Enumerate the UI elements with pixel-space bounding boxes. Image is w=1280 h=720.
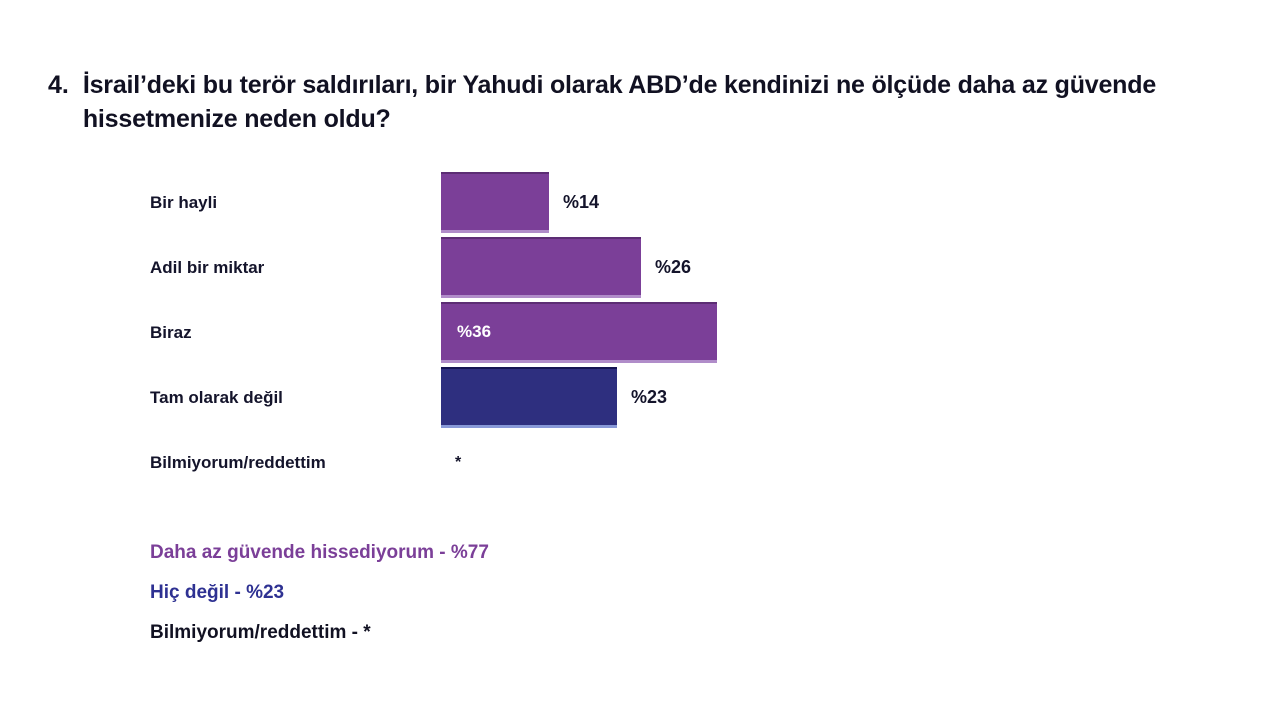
category-label: Adil bir miktar <box>150 257 430 279</box>
bar-biraz[interactable]: %36 <box>441 302 717 363</box>
chart-row: Adil bir miktar %26 <box>0 235 1280 300</box>
bar-area: %36 <box>441 300 717 365</box>
chart-row: Bilmiyorum/reddettim * <box>0 430 1280 495</box>
bar-area: %26 <box>441 235 691 300</box>
bar-adil-bir-miktar[interactable] <box>441 237 641 298</box>
summary-legend: Daha az güvende hissediyorum - %77 Hiç d… <box>150 533 489 653</box>
category-label: Tam olarak değil <box>150 387 430 409</box>
bar-tam-olarak-degil[interactable] <box>441 367 617 428</box>
question-heading: 4. İsrail’deki bu terör saldırıları, bir… <box>48 68 1228 136</box>
summary-line-dont-know: Bilmiyorum/reddettim - * <box>150 613 489 653</box>
summary-line-less-safe: Daha az güvende hissediyorum - %77 <box>150 533 489 573</box>
bar-value-label: %26 <box>655 257 691 278</box>
bar-value-label: %23 <box>631 387 667 408</box>
category-label: Biraz <box>150 322 430 344</box>
bar-bir-hayli[interactable] <box>441 172 549 233</box>
chart-row: Biraz %36 <box>0 300 1280 365</box>
category-label: Bilmiyorum/reddettim <box>150 452 430 474</box>
bar-area: %23 <box>441 365 667 430</box>
category-label: Bir hayli <box>150 192 430 214</box>
bar-area: %14 <box>441 170 599 235</box>
question-text: İsrail’deki bu terör saldırıları, bir Ya… <box>83 68 1203 136</box>
bar-value-label: %14 <box>563 192 599 213</box>
chart-row: Bir hayli %14 <box>0 170 1280 235</box>
bar-area: * <box>441 430 461 495</box>
bar-value-label: %36 <box>457 322 491 342</box>
question-number: 4. <box>48 68 69 102</box>
chart-row: Tam olarak değil %23 <box>0 365 1280 430</box>
bar-value-label: * <box>455 454 461 472</box>
bar-chart: Bir hayli %14 Adil bir miktar %26 Biraz … <box>0 170 1280 495</box>
summary-line-not-at-all: Hiç değil - %23 <box>150 573 489 613</box>
